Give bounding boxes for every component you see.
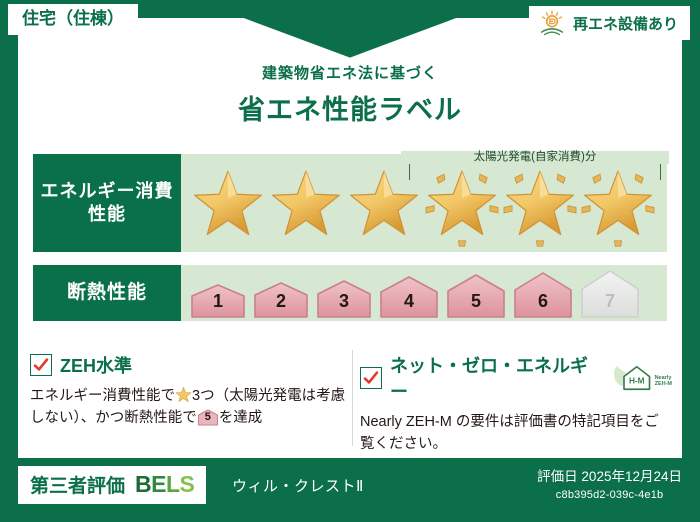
label-main-title: 省エネ性能ラベル xyxy=(0,88,700,127)
star-icon xyxy=(175,386,192,403)
evaluation-date: 評価日 2025年12月24日 xyxy=(537,468,682,487)
insulation-level-house: 4 xyxy=(376,275,442,319)
zeh-description-part3: を達成 xyxy=(219,410,263,426)
bels-logo: BELS xyxy=(135,471,194,498)
zeh-heading: ZEH水準 xyxy=(30,352,348,378)
insulation-performance-body: 1 2 3 4 xyxy=(181,265,667,321)
nze-heading: ネット・ゼロ・エネルギー H-M Nearly ZEH-M xyxy=(360,352,672,404)
nze-title: ネット・ゼロ・エネルギー xyxy=(390,352,599,404)
nze-checkbox xyxy=(360,367,382,389)
evaluation-id: c8b395d2-039c-4e1b xyxy=(537,487,682,504)
insulation-level-house: 5 xyxy=(443,273,509,319)
energy-performance-row: エネルギー消費性能 太陽光発電(自家消費)分 xyxy=(33,154,667,252)
renewable-energy-badge: 再エネ設備あり xyxy=(529,6,690,40)
net-zero-energy-section: ネット・ゼロ・エネルギー H-M Nearly ZEH-M Nearly ZEH… xyxy=(360,352,672,456)
house-icon xyxy=(377,275,441,319)
third-party-eval-label: 第三者評価 xyxy=(30,471,125,498)
zeh-m-caption: Nearly ZEH-M xyxy=(655,376,672,393)
nze-description: Nearly ZEH-M の要件は評価書の特記項目をご覧ください。 xyxy=(360,411,672,456)
star-cell xyxy=(267,157,345,249)
insulation-level-scale: 1 2 3 4 xyxy=(181,263,667,319)
zeh-standard-section: ZEH水準 エネルギー消費性能で3つ（太陽光発電は考慮しない）、かつ断熱性能で5… xyxy=(30,352,348,430)
solar-sun-icon xyxy=(537,10,567,36)
insulation-performance-label: 断熱性能 xyxy=(33,265,181,321)
house-icon xyxy=(188,283,248,319)
zeh-m-caption-line2: ZEH-M xyxy=(655,381,672,387)
renewable-badge-label: 再エネ設備あり xyxy=(573,13,678,34)
energy-performance-label: 住宅（住棟） 再エネ設備あり 建築物省エネ法に基づく xyxy=(0,0,700,522)
column-divider xyxy=(352,350,353,446)
star-icon xyxy=(269,166,343,240)
insulation-level-house: 1 xyxy=(187,283,249,319)
building-type-label: 住宅（住棟） xyxy=(22,9,124,28)
footer: 第三者評価 BELS ウィル・クレストⅡ 評価日 2025年12月24日 c8b… xyxy=(0,458,700,522)
title-block: 建築物省エネ法に基づく 省エネ性能ラベル xyxy=(0,62,700,127)
star-icon xyxy=(191,166,265,240)
solar-bracket-label: 太陽光発電(自家消費)分 xyxy=(401,151,669,164)
check-icon xyxy=(363,370,379,386)
energy-performance-body: 太陽光発電(自家消費)分 xyxy=(181,154,667,252)
bels-badge: 第三者評価 BELS xyxy=(18,466,206,504)
energy-performance-label: エネルギー消費性能 xyxy=(33,154,181,252)
zeh-m-house-icon: H-M xyxy=(612,363,654,393)
house-icon xyxy=(314,279,374,319)
svg-text:H-M: H-M xyxy=(629,376,645,385)
zeh-title: ZEH水準 xyxy=(60,352,132,378)
insulation-level-house: 2 xyxy=(250,281,312,319)
house-icon xyxy=(511,271,575,319)
house-icon xyxy=(578,269,642,319)
zeh-checkbox xyxy=(30,354,52,376)
label-subtitle: 建築物省エネ法に基づく xyxy=(0,62,700,83)
evaluation-info: 評価日 2025年12月24日 c8b395d2-039c-4e1b xyxy=(537,468,682,503)
inline-house-icon: 5 xyxy=(197,409,219,426)
house-icon xyxy=(251,281,311,319)
zeh-description-part1: エネルギー消費性能で xyxy=(30,388,175,404)
insulation-level-house: 3 xyxy=(313,279,375,319)
insulation-level-house-inactive: 7 xyxy=(577,269,643,319)
check-icon xyxy=(33,357,49,373)
zeh-description: エネルギー消費性能で3つ（太陽光発電は考慮しない）、かつ断熱性能で5を達成 xyxy=(30,385,348,430)
building-name: ウィル・クレストⅡ xyxy=(232,475,364,496)
inline-house-number: 5 xyxy=(197,409,219,426)
insulation-performance-row: 断熱性能 xyxy=(33,265,667,321)
building-type-tag: 住宅（住棟） xyxy=(8,4,138,35)
star-cell xyxy=(189,157,267,249)
house-icon xyxy=(444,273,508,319)
zeh-m-logo: H-M Nearly ZEH-M xyxy=(612,363,672,393)
insulation-level-house: 6 xyxy=(510,271,576,319)
